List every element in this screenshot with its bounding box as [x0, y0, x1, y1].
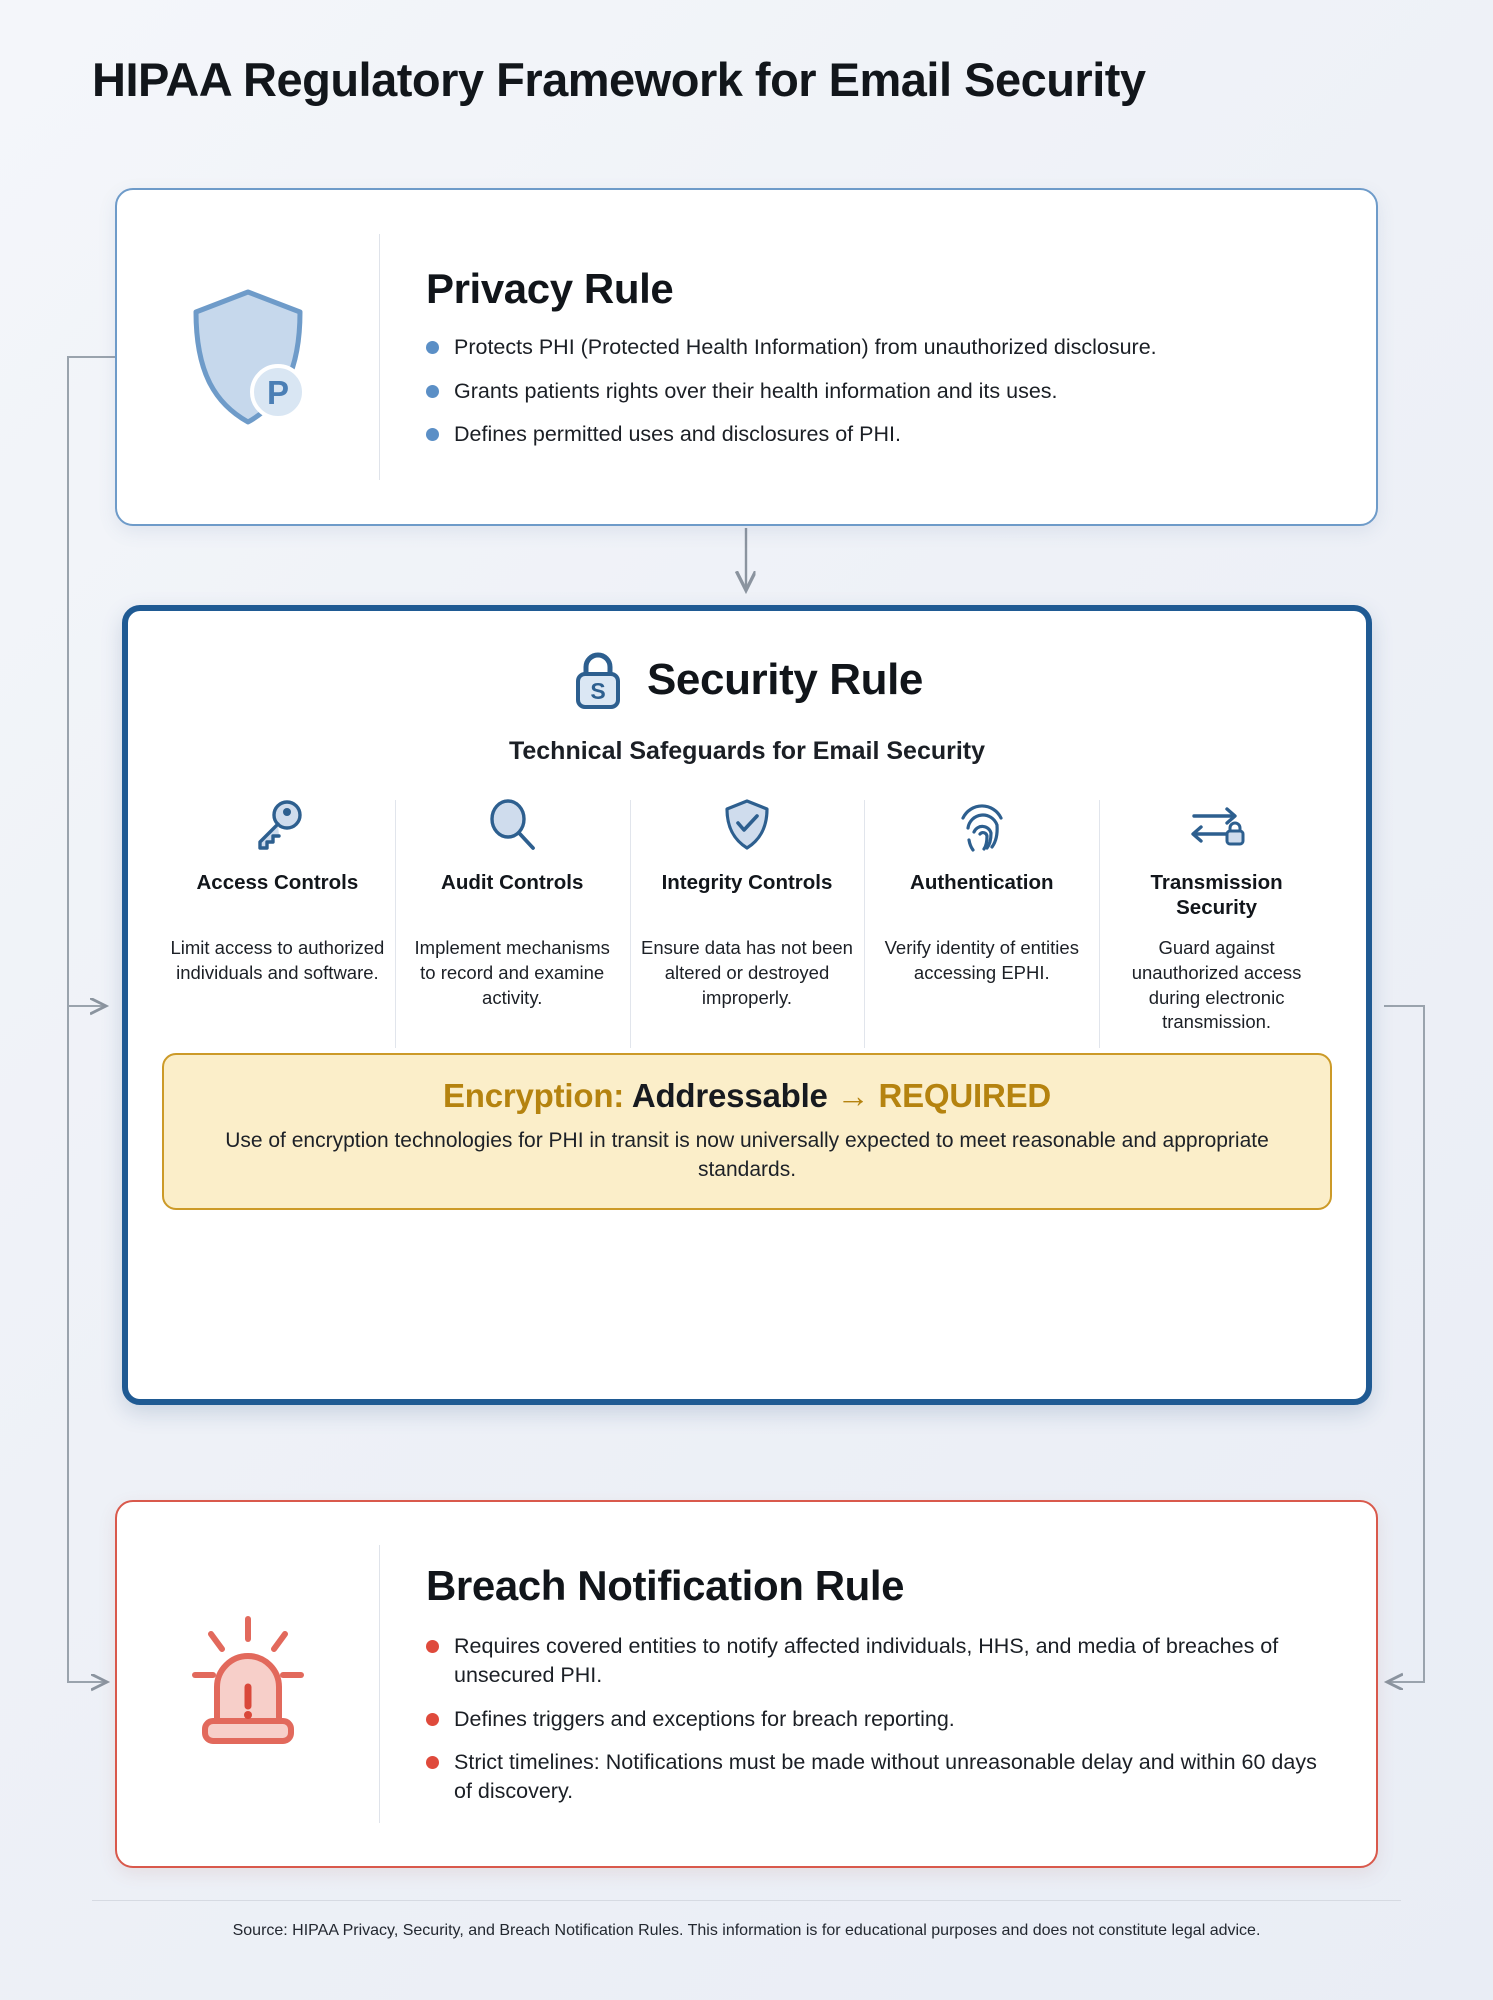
list-item-text: Defines permitted uses and disclosures o…: [454, 420, 901, 449]
encryption-status-from: Addressable: [632, 1077, 828, 1114]
shield-check-icon: [640, 794, 855, 856]
encryption-callout-heading: Encryption: Addressable → REQUIRED: [190, 1077, 1304, 1115]
safeguard-label: Authentication: [874, 870, 1089, 922]
safeguard-label: Access Controls: [170, 870, 385, 922]
privacy-icon-container: P: [117, 190, 379, 524]
bullet-dot-icon: [426, 385, 439, 398]
svg-text:P: P: [267, 374, 289, 411]
list-item: Defines permitted uses and disclosures o…: [426, 420, 1340, 449]
breach-rule-heading: Breach Notification Rule: [426, 1562, 1340, 1610]
list-item-text: Requires covered entities to notify affe…: [454, 1632, 1340, 1690]
security-rule-header: S Security Rule: [128, 649, 1366, 711]
list-item: Requires covered entities to notify affe…: [426, 1632, 1340, 1690]
safeguard-description: Guard against unauthorized access during…: [1109, 936, 1324, 1035]
list-item-text: Grants patients rights over their health…: [454, 377, 1058, 406]
magnifier-icon: [405, 794, 620, 856]
list-item: Protects PHI (Protected Health Informati…: [426, 333, 1340, 362]
bullet-dot-icon: [426, 1713, 439, 1726]
safeguard-access-controls[interactable]: Access Controls Limit access to authoriz…: [160, 794, 395, 1035]
list-item: Grants patients rights over their health…: [426, 377, 1340, 406]
footer-source-note: Source: HIPAA Privacy, Security, and Bre…: [0, 1922, 1493, 1940]
list-item-text: Strict timelines: Notifications must be …: [454, 1748, 1340, 1806]
alarm-siren-icon: [173, 1609, 323, 1759]
safeguard-label: Transmission Security: [1109, 870, 1324, 922]
safeguard-description: Ensure data has not been altered or dest…: [640, 936, 855, 1010]
safeguard-label: Audit Controls: [405, 870, 620, 922]
safeguards-grid: Access Controls Limit access to authoriz…: [160, 794, 1334, 1035]
safeguard-authentication[interactable]: Authentication Verify identity of entiti…: [864, 794, 1099, 1035]
safeguard-transmission-security[interactable]: Transmission Security Guard against unau…: [1099, 794, 1334, 1035]
list-item: Defines triggers and exceptions for brea…: [426, 1705, 1340, 1734]
encryption-callout: Encryption: Addressable → REQUIRED Use o…: [162, 1053, 1332, 1210]
privacy-rule-heading: Privacy Rule: [426, 265, 1340, 313]
breach-notification-rule-card[interactable]: Breach Notification Rule Requires covere…: [115, 1500, 1378, 1868]
lock-s-icon: S: [571, 649, 625, 711]
bullet-dot-icon: [426, 1756, 439, 1769]
fingerprint-icon: [874, 794, 1089, 856]
bullet-dot-icon: [426, 428, 439, 441]
safeguard-description: Verify identity of entities accessing EP…: [874, 936, 1089, 986]
safeguard-label: Integrity Controls: [640, 870, 855, 922]
infographic-page: HIPAA Regulatory Framework for Email Sec…: [0, 0, 1493, 2000]
arrow-right-icon: →: [837, 1077, 870, 1114]
privacy-bullet-list: Protects PHI (Protected Health Informati…: [426, 333, 1340, 449]
encryption-label: Encryption:: [443, 1077, 624, 1114]
security-rule-subheading: Technical Safeguards for Email Security: [128, 737, 1366, 766]
bullet-dot-icon: [426, 1640, 439, 1653]
list-item-text: Defines triggers and exceptions for brea…: [454, 1705, 955, 1734]
svg-text:S: S: [590, 678, 605, 704]
encryption-status-to: REQUIRED: [878, 1077, 1051, 1114]
shield-p-icon: P: [182, 282, 314, 432]
breach-icon-container: [117, 1502, 379, 1866]
breach-bullet-list: Requires covered entities to notify affe…: [426, 1632, 1340, 1806]
safeguard-description: Limit access to authorized individuals a…: [170, 936, 385, 986]
page-title: HIPAA Regulatory Framework for Email Sec…: [92, 52, 1146, 107]
privacy-rule-card[interactable]: P Privacy Rule Protects PHI (Protected H…: [115, 188, 1378, 526]
list-item-text: Protects PHI (Protected Health Informati…: [454, 333, 1157, 362]
security-rule-heading: Security Rule: [647, 655, 923, 705]
encryption-callout-body: Use of encryption technologies for PHI i…: [190, 1127, 1304, 1184]
safeguard-integrity-controls[interactable]: Integrity Controls Ensure data has not b…: [630, 794, 865, 1035]
security-rule-card[interactable]: S Security Rule Technical Safeguards for…: [122, 605, 1372, 1405]
list-item: Strict timelines: Notifications must be …: [426, 1748, 1340, 1806]
footer-divider: [92, 1900, 1401, 1901]
key-icon: [170, 794, 385, 856]
safeguard-audit-controls[interactable]: Audit Controls Implement mechanisms to r…: [395, 794, 630, 1035]
bullet-dot-icon: [426, 341, 439, 354]
transmission-lock-arrows-icon: [1109, 794, 1324, 856]
safeguard-description: Implement mechanisms to record and exami…: [405, 936, 620, 1010]
